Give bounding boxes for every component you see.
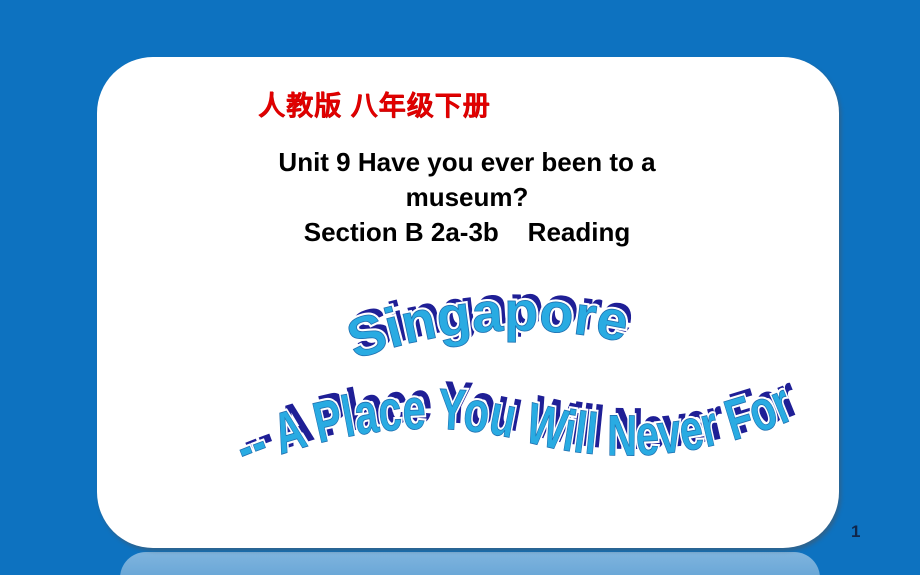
unit-title-line-2: museum? (157, 180, 777, 215)
wordart-block: Singapore Singapore Singapore -- A (97, 272, 839, 502)
unit-title-block: Unit 9 Have you ever been to a museum? S… (157, 145, 777, 250)
page-number: 1 (851, 522, 860, 542)
publisher-heading: 人教版 八年级下册 (258, 84, 491, 123)
wordart-svg: Singapore Singapore Singapore -- A (97, 272, 839, 502)
unit-title-line-1: Unit 9 Have you ever been to a (157, 145, 777, 180)
under-card-panel (120, 552, 820, 575)
slide-canvas: 人教版 八年级下册 Unit 9 Have you ever been to a… (0, 0, 920, 575)
section-line: Section B 2a-3b Reading (157, 215, 777, 250)
content-card: 人教版 八年级下册 Unit 9 Have you ever been to a… (97, 57, 839, 548)
